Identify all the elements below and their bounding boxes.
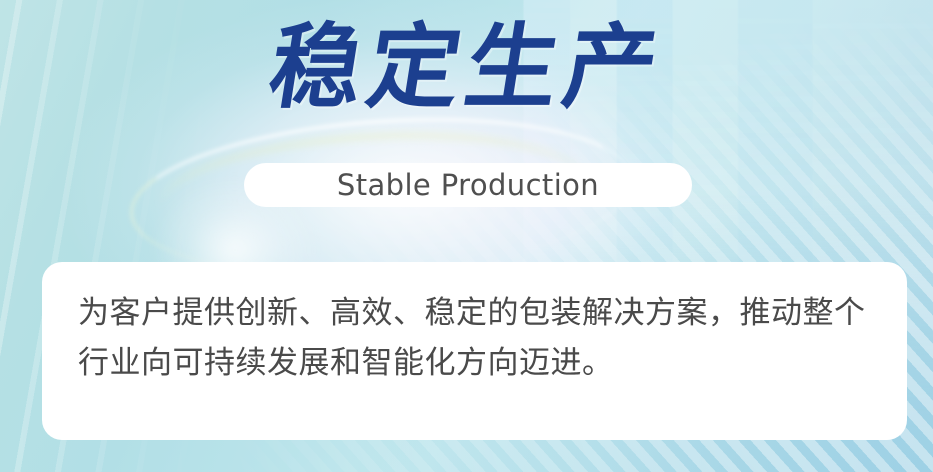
description-text: 为客户提供创新、高效、稳定的包装解决方案，推动整个行业向可持续发展和智能化方向迈… bbox=[78, 288, 871, 388]
stable-production-banner: 稳定生产 Stable Production 为客户提供创新、高效、稳定的包装解… bbox=[0, 0, 933, 472]
subtitle-text: Stable Production bbox=[337, 168, 599, 202]
subtitle-pill: Stable Production bbox=[244, 163, 692, 207]
page-title: 稳定生产 bbox=[0, 18, 933, 117]
description-card: 为客户提供创新、高效、稳定的包装解决方案，推动整个行业向可持续发展和智能化方向迈… bbox=[42, 262, 907, 440]
